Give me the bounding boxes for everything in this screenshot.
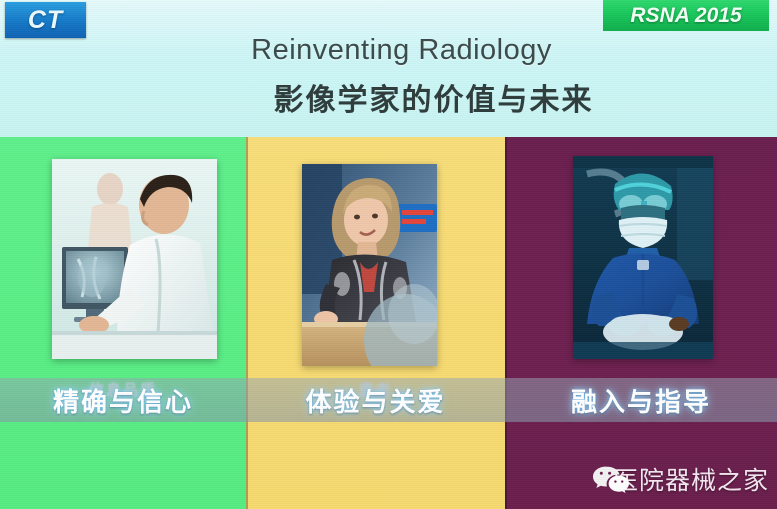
modality-badge-label: CT	[28, 6, 63, 35]
presentation-slide: CT RSNA 2015 Reinventing Radiology 影像学家的…	[0, 0, 777, 509]
reception-staff-photo	[302, 164, 437, 366]
column-experience-care: 患者	[246, 137, 505, 509]
three-pillar-columns: 信息品质	[0, 137, 777, 509]
radiologist-workstation-photo	[52, 159, 217, 359]
slide-title-english: Reinventing Radiology	[0, 34, 777, 67]
wechat-watermark: 医院器械之家	[592, 461, 769, 497]
rsna-conference-logo: RSNA 2015	[603, 0, 769, 31]
slide-header: CT RSNA 2015 Reinventing Radiology 影像学家的…	[0, 0, 777, 137]
rsna-logo-label: RSNA 2015	[630, 4, 741, 28]
watermark-text: 医院器械之家	[613, 461, 769, 497]
wechat-icon	[592, 464, 630, 494]
column-caption-patient: 患者	[246, 379, 505, 400]
column-precision-confidence: 信息品质	[0, 137, 246, 509]
modality-badge-ct: CT	[5, 2, 86, 38]
column-caption-information-quality: 信息品质	[0, 379, 246, 400]
column-integration-guidance	[505, 137, 777, 509]
slide-title-chinese: 影像学家的价值与未来	[0, 75, 777, 119]
surgeon-operating-room-photo	[573, 156, 713, 359]
